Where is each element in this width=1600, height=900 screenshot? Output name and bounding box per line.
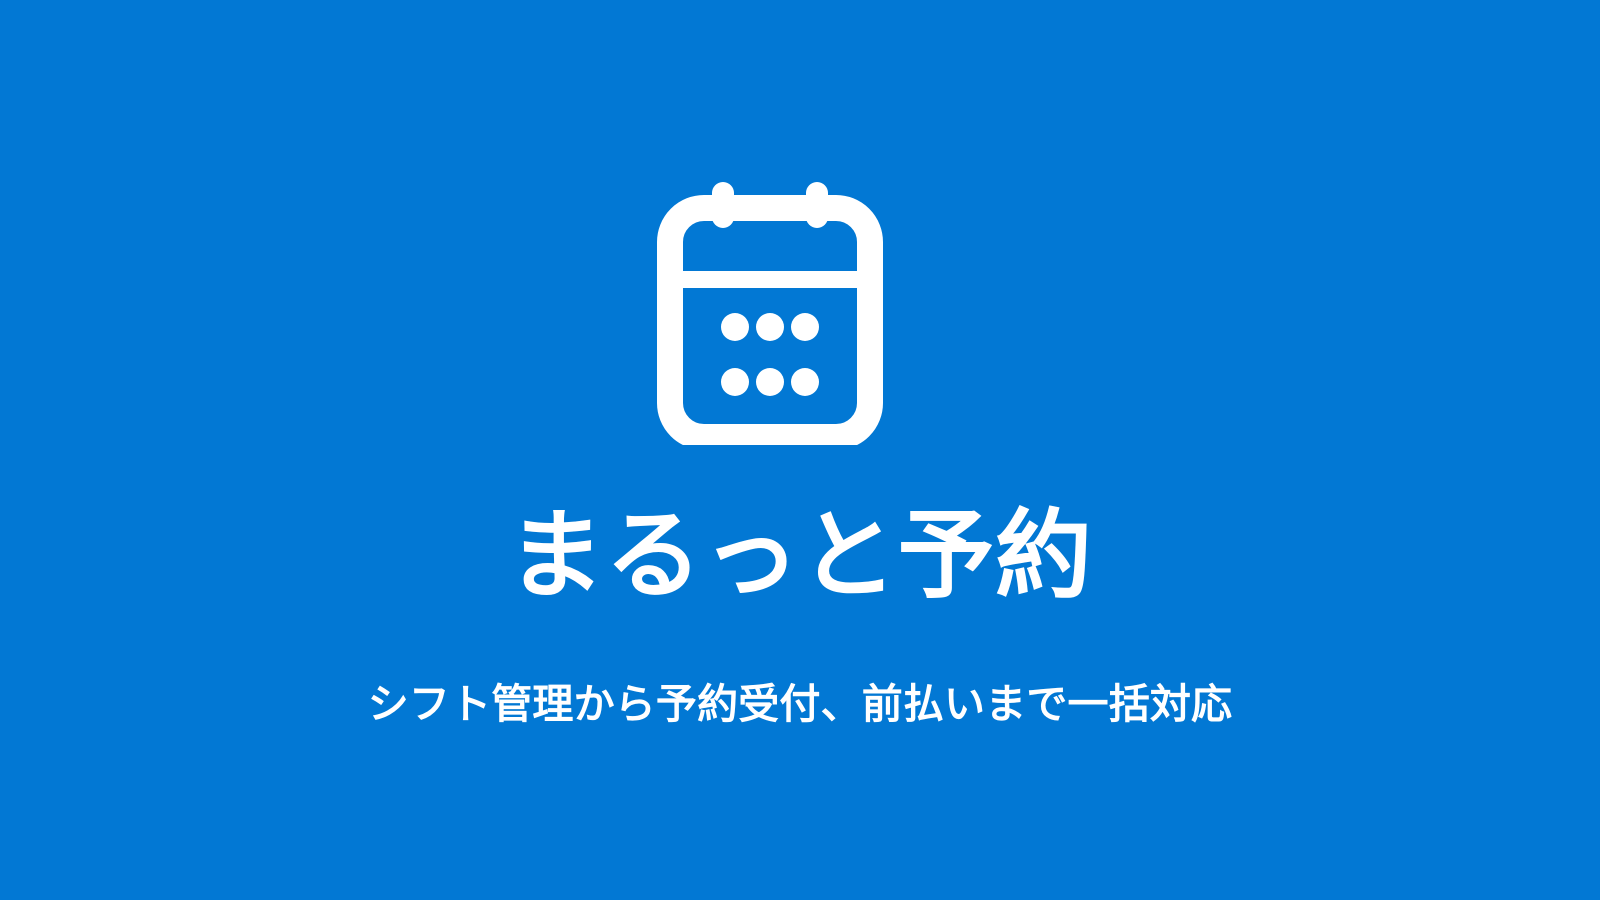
calendar-dot bbox=[721, 313, 749, 341]
calendar-dot bbox=[756, 368, 784, 396]
app-tagline: シフト管理から予約受付、前払いまで一括対応 bbox=[0, 678, 1600, 730]
calendar-dot bbox=[791, 368, 819, 396]
calendar-header-divider bbox=[670, 271, 870, 288]
calendar-dot bbox=[721, 368, 749, 396]
splash-screen: まるっと予約 シフト管理から予約受付、前払いまで一括対応 bbox=[0, 0, 1600, 900]
calendar-dot bbox=[791, 313, 819, 341]
calendar-dot bbox=[756, 313, 784, 341]
calendar-icon bbox=[650, 175, 890, 445]
app-title: まるっと予約 bbox=[0, 502, 1600, 610]
